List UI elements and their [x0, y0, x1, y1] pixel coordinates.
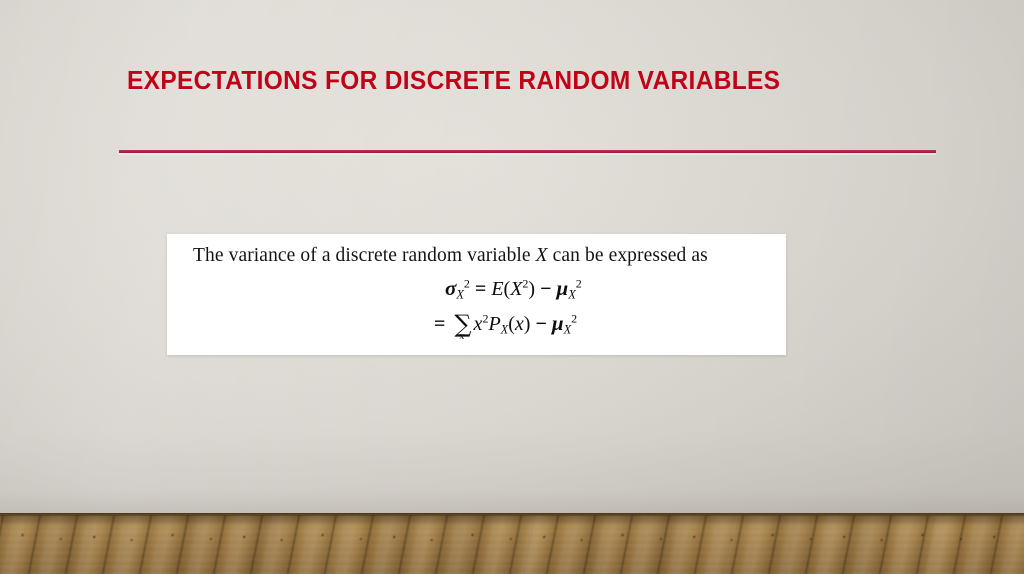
sigma-symbol: σ: [445, 276, 456, 300]
divider-highlight: [119, 153, 936, 155]
formula-image-block: The variance of a discrete random variab…: [167, 234, 786, 355]
presentation-slide: EXPECTATIONS FOR DISCRETE RANDOM VARIABL…: [0, 0, 1024, 574]
mu-symbol: μ: [557, 276, 569, 300]
open-paren: (: [508, 313, 515, 335]
mu-symbol: μ: [552, 311, 564, 335]
floor-wall-junction: [0, 513, 1024, 516]
minus-operator: −: [530, 313, 551, 335]
mu-subscript: X: [568, 287, 576, 301]
page-title: EXPECTATIONS FOR DISCRETE RANDOM VARIABL…: [127, 66, 885, 96]
equation-block: σX2=E(X2)−μX2 =∑xx2PX(x)−μX2: [167, 276, 786, 344]
equation-variance-definition: σX2=E(X2)−μX2: [167, 276, 786, 310]
sigma-subscript: X: [456, 287, 464, 301]
formula-lead-text: The variance of a discrete random variab…: [193, 245, 708, 267]
mu-superscript: 2: [571, 312, 577, 326]
floor-knot-dots: [0, 531, 1024, 545]
pmf-argument: x: [515, 313, 524, 335]
pmf-symbol: P: [488, 313, 500, 335]
title-divider-rule: [119, 150, 936, 155]
summation-symbol: ∑x: [454, 310, 471, 338]
mu-subscript: X: [564, 322, 572, 336]
random-variable-x: X: [510, 278, 522, 300]
equation-variance-summation: =∑xx2PX(x)−μX2: [167, 310, 786, 344]
sigma-superscript: 2: [464, 277, 470, 291]
equals-operator: =: [470, 278, 491, 300]
mu-superscript: 2: [576, 277, 582, 291]
summation-index: x: [459, 332, 464, 342]
lead-text-before: The variance of a discrete random variab…: [193, 245, 536, 266]
lead-variable: X: [536, 245, 548, 266]
wooden-floor: [0, 513, 1024, 574]
minus-operator: −: [535, 278, 556, 300]
expectation-operator: E: [491, 278, 503, 300]
equals-operator: =: [429, 313, 450, 335]
lead-text-after: can be expressed as: [548, 245, 708, 266]
